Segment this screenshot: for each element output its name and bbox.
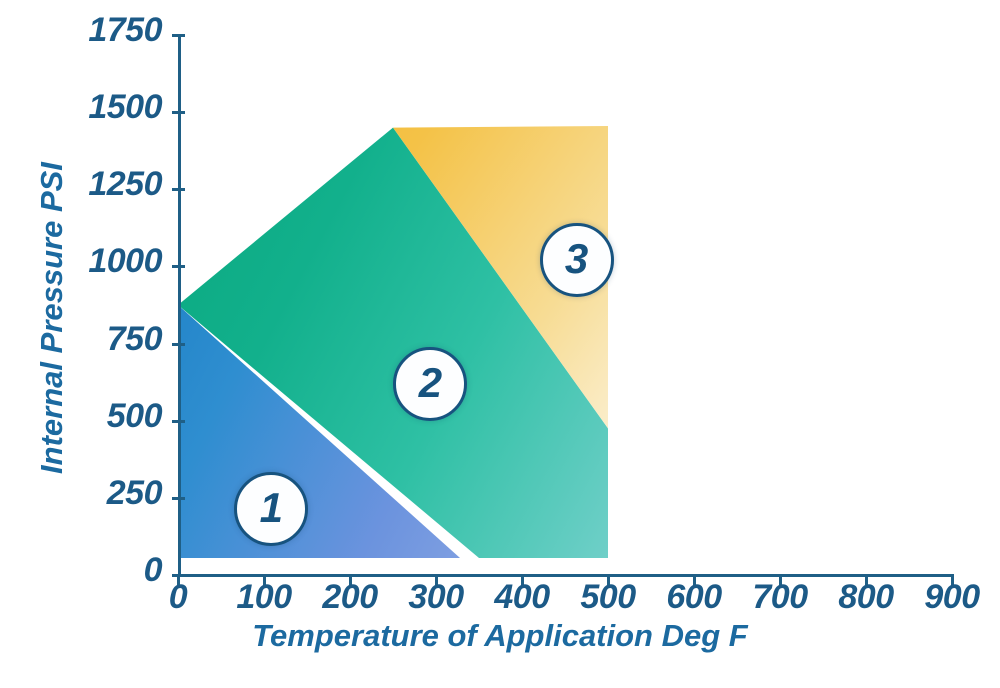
y-tick-750 bbox=[172, 343, 185, 346]
y-tick-1000 bbox=[172, 265, 185, 268]
pressure-temperature-chart: 02505007501000125015001750 0100200300400… bbox=[0, 0, 1000, 688]
y-tick-label-1750: 1750 bbox=[88, 11, 162, 50]
y-tick-label-1000: 1000 bbox=[88, 242, 162, 281]
y-axis-title: Internal Pressure PSI bbox=[34, 158, 70, 478]
x-tick-label-900: 900 bbox=[892, 578, 1000, 617]
zone-marker-3[interactable]: 3 bbox=[540, 223, 614, 297]
zone-marker-label-3: 3 bbox=[565, 238, 588, 280]
y-tick-1750 bbox=[172, 34, 185, 37]
x-axis-line bbox=[178, 574, 953, 577]
y-tick-1500 bbox=[172, 111, 185, 114]
y-tick-250 bbox=[172, 497, 185, 500]
y-tick-label-500: 500 bbox=[107, 397, 162, 436]
x-axis-title: Temperature of Application Deg F bbox=[0, 618, 1000, 654]
y-tick-500 bbox=[172, 420, 185, 423]
zone-marker-2[interactable]: 2 bbox=[393, 347, 467, 421]
y-tick-label-250: 250 bbox=[107, 474, 162, 513]
y-tick-label-1500: 1500 bbox=[88, 88, 162, 127]
y-tick-label-750: 750 bbox=[107, 320, 162, 359]
y-tick-1250 bbox=[172, 188, 185, 191]
y-axis-line bbox=[178, 35, 181, 576]
zone-marker-label-2: 2 bbox=[419, 362, 442, 404]
zone-marker-1[interactable]: 1 bbox=[234, 472, 308, 546]
zone-marker-label-1: 1 bbox=[260, 487, 283, 529]
y-tick-label-1250: 1250 bbox=[88, 165, 162, 204]
